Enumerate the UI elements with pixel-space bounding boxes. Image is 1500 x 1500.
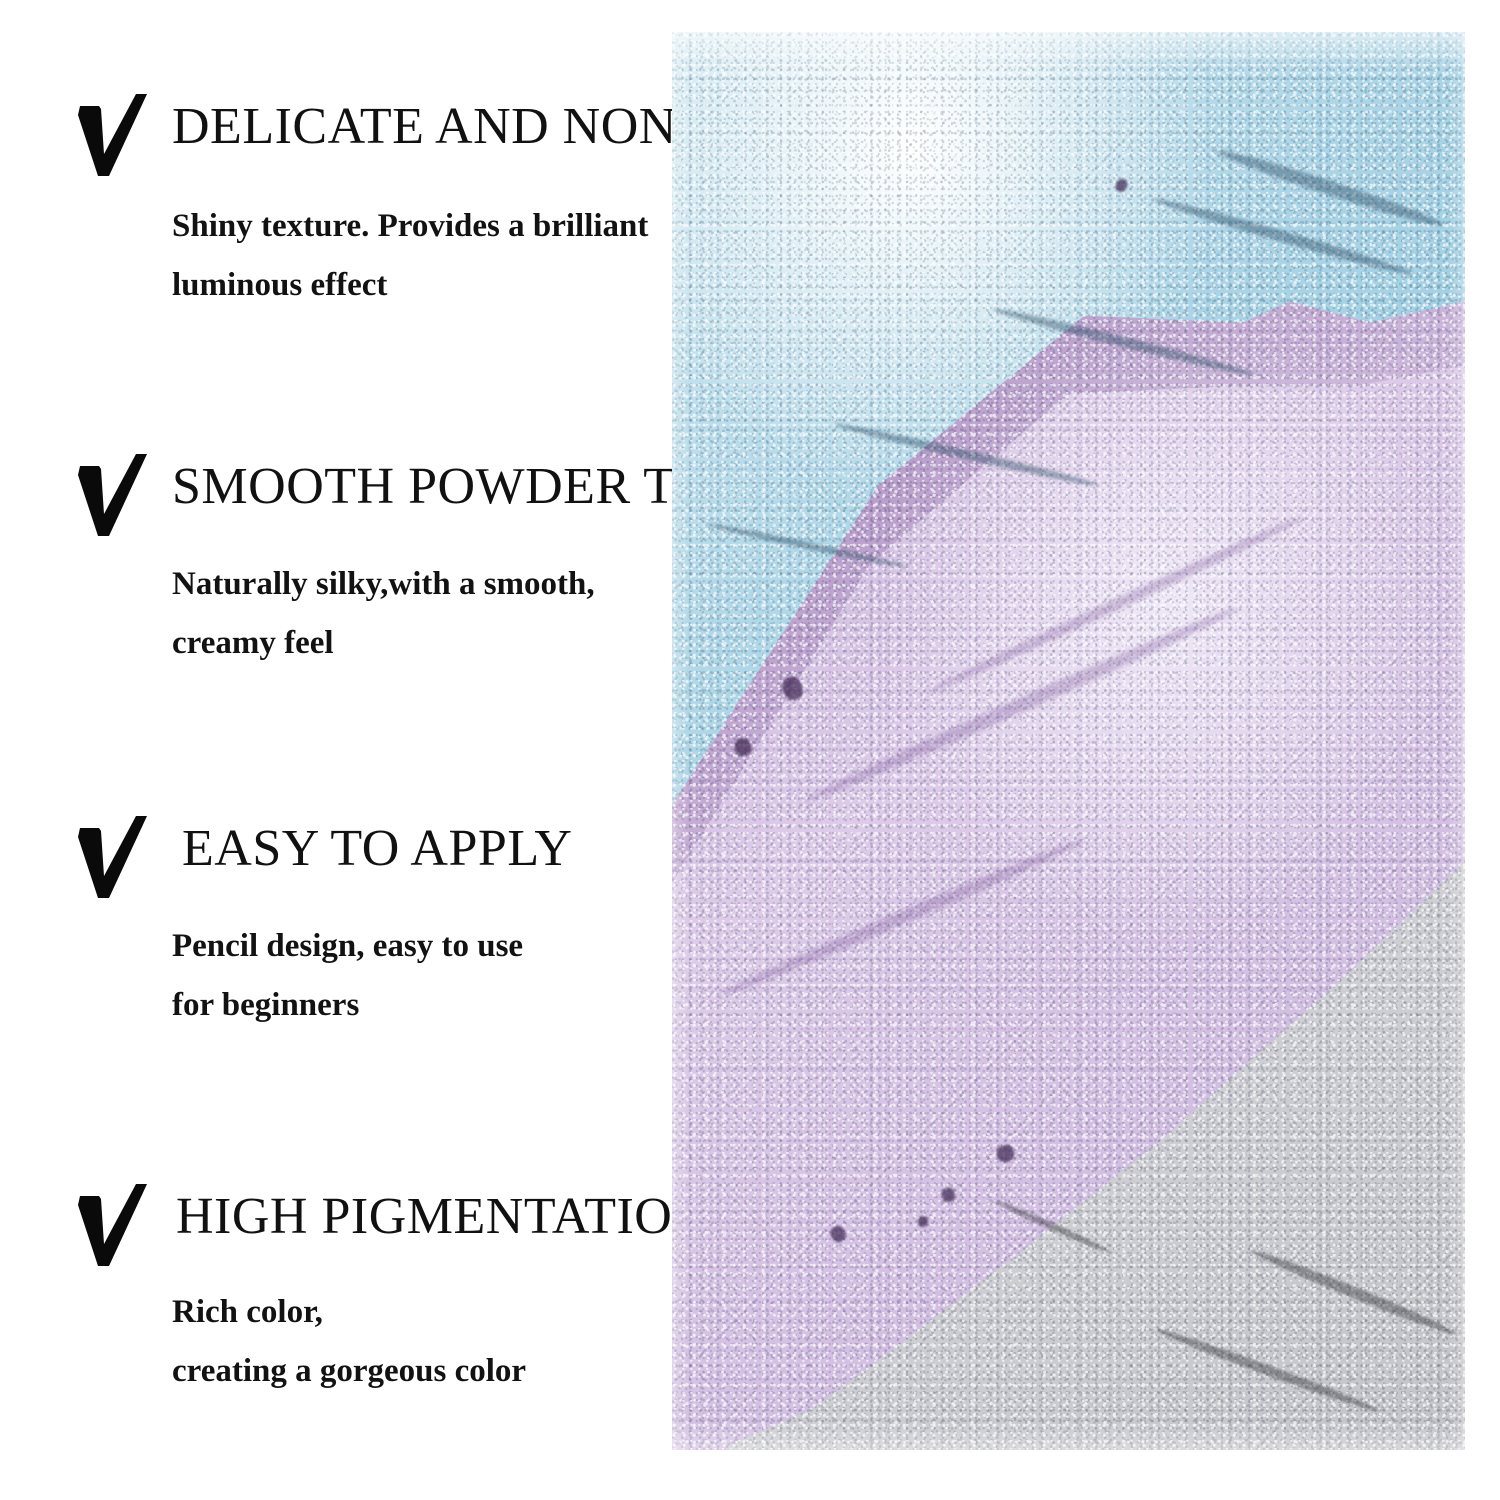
feature-description-line: Pencil design, easy to use: [172, 930, 523, 963]
feature-headline-row: HIGH PIGMENTATION: [0, 1186, 700, 1262]
feature-item: DELICATE AND NON-STICKY Shiny texture. P…: [0, 96, 700, 172]
feature-list: DELICATE AND NON-STICKY Shiny texture. P…: [0, 0, 700, 1500]
feature-headline: HIGH PIGMENTATION: [176, 1190, 710, 1245]
feature-description-line: luminous effect: [172, 269, 648, 302]
feature-headline-row: SMOOTH POWDER TEXTURE: [0, 456, 700, 532]
feature-description-line: for beginners: [172, 989, 523, 1022]
feature-description-line: creating a gorgeous color: [172, 1355, 526, 1388]
eyeshadow-swatch-photo: [672, 32, 1465, 1450]
powder-fleck: [918, 1216, 928, 1227]
feature-headline-row: DELICATE AND NON-STICKY: [0, 96, 700, 172]
feature-item: EASY TO APPLY Pencil design, easy to use…: [0, 818, 700, 894]
feature-description: Shiny texture. Provides a brilliant lumi…: [172, 210, 648, 302]
feature-item: SMOOTH POWDER TEXTURE Naturally silky,wi…: [0, 456, 700, 532]
feature-item: HIGH PIGMENTATION Rich color, creating a…: [0, 1186, 700, 1262]
feature-headline: EASY TO APPLY: [182, 822, 572, 877]
page-canvas: DELICATE AND NON-STICKY Shiny texture. P…: [0, 0, 1500, 1500]
feature-description-line: creamy feel: [172, 627, 595, 660]
feature-description-line: Shiny texture. Provides a brilliant: [172, 210, 648, 243]
feature-description: Naturally silky,with a smooth, creamy fe…: [172, 568, 595, 660]
check-radical-icon: [74, 1182, 152, 1268]
feature-description: Pencil design, easy to use for beginners: [172, 930, 523, 1022]
feature-description-line: Naturally silky,with a smooth,: [172, 568, 595, 601]
feature-description: Rich color, creating a gorgeous color: [172, 1296, 526, 1388]
check-radical-icon: [74, 814, 152, 900]
feature-headline-row: EASY TO APPLY: [0, 818, 700, 894]
check-radical-icon: [74, 92, 152, 178]
feature-description-line: Rich color,: [172, 1296, 526, 1329]
check-radical-icon: [74, 452, 152, 538]
